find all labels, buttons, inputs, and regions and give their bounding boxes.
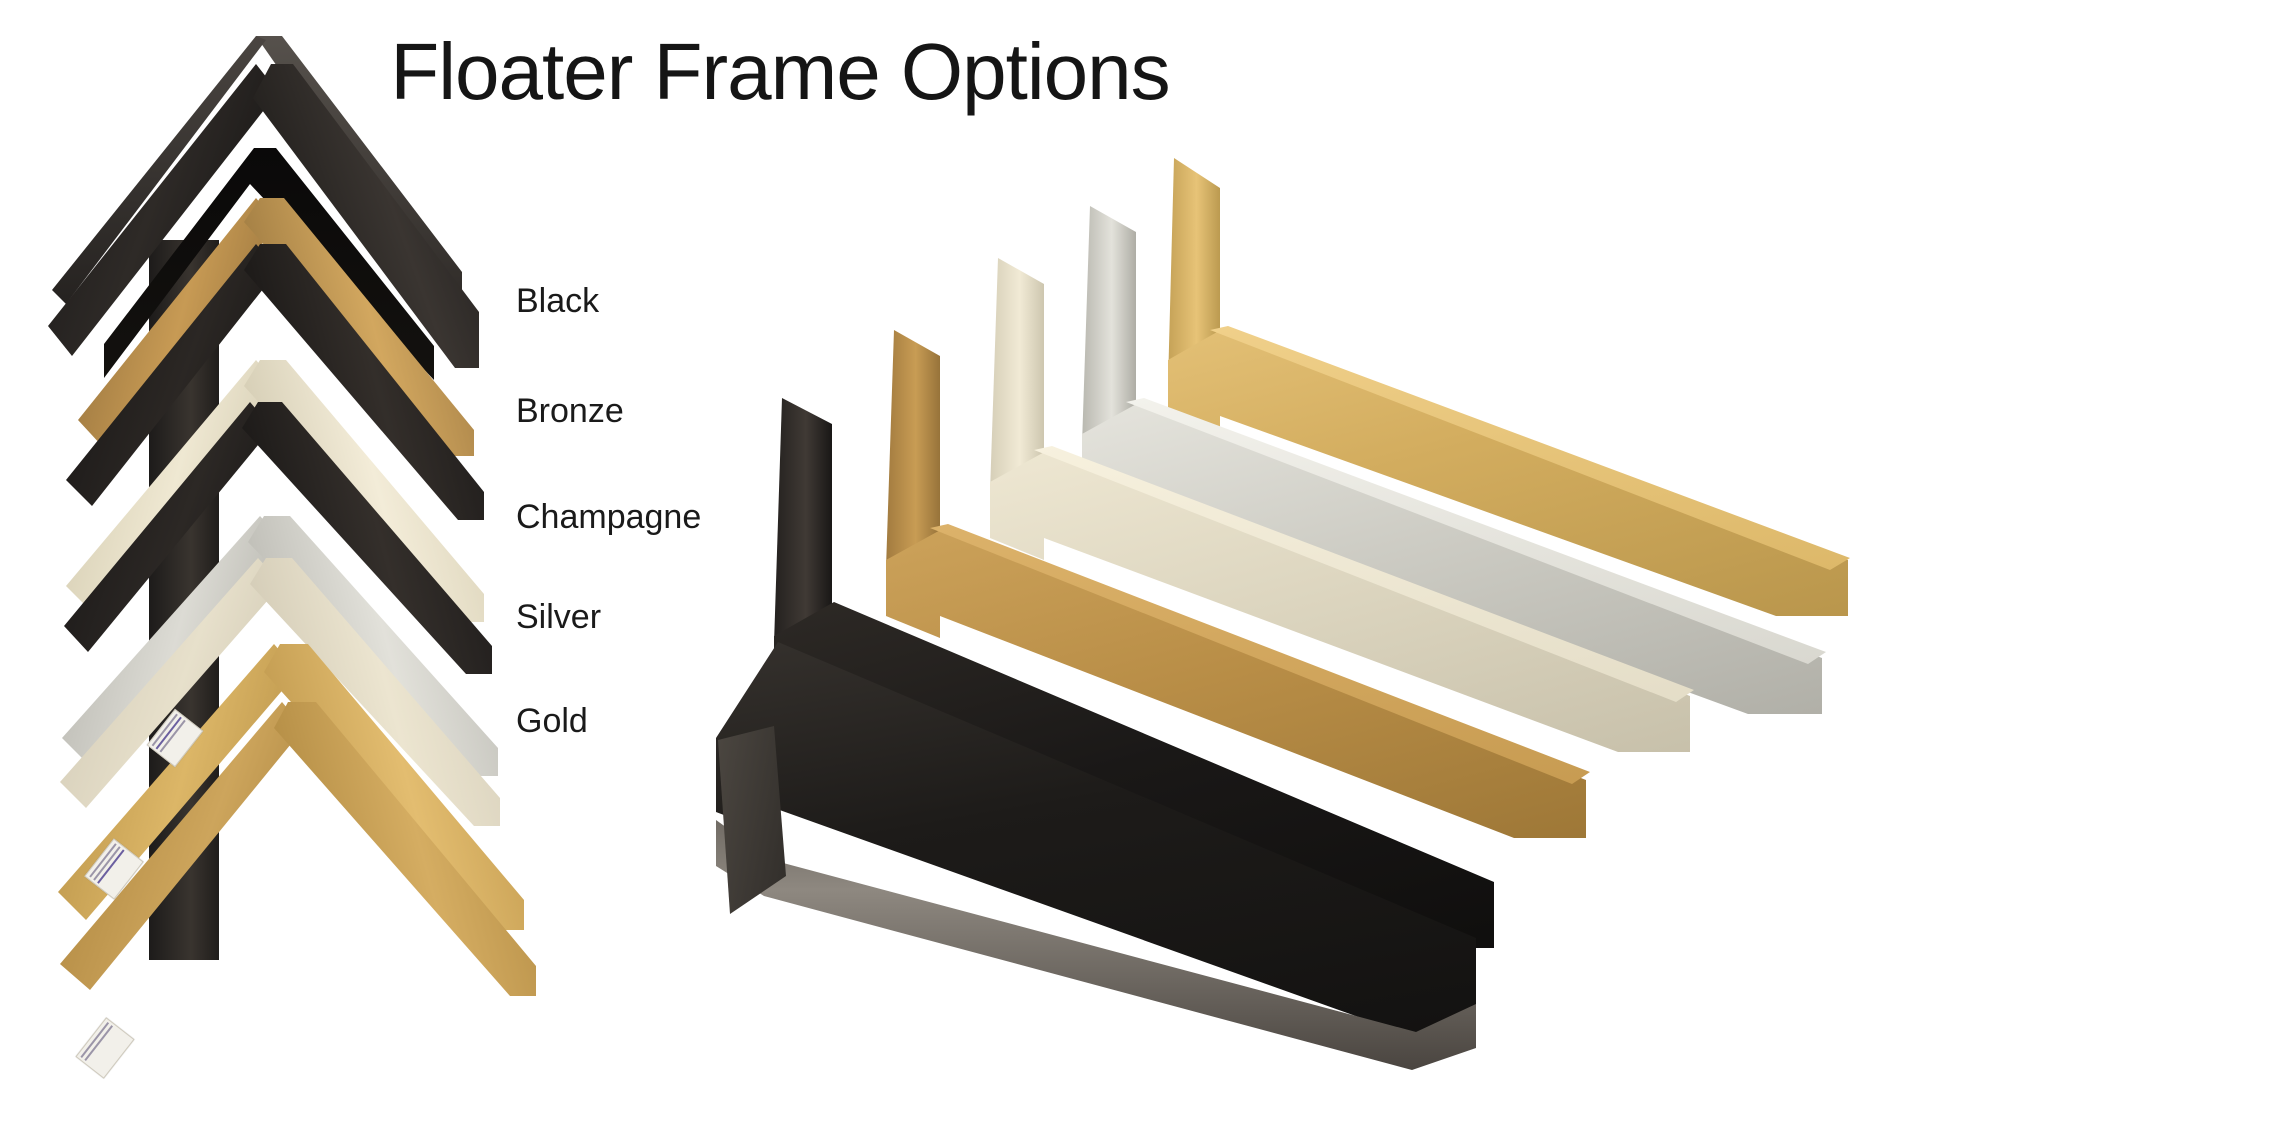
right-frame-stack-photo bbox=[690, 130, 2250, 1130]
product-sticker bbox=[75, 1017, 134, 1079]
finish-label-gold: Gold bbox=[516, 702, 588, 741]
slide-canvas: Floater Frame Options bbox=[0, 0, 2280, 1140]
finish-label-silver: Silver bbox=[516, 598, 601, 637]
left-frame-stack-photo: Black Bronze Champagne Silver Gold bbox=[44, 30, 644, 1140]
finish-label-black: Black bbox=[516, 282, 599, 321]
finish-label-champagne: Champagne bbox=[516, 498, 701, 537]
finish-label-bronze: Bronze bbox=[516, 392, 624, 431]
